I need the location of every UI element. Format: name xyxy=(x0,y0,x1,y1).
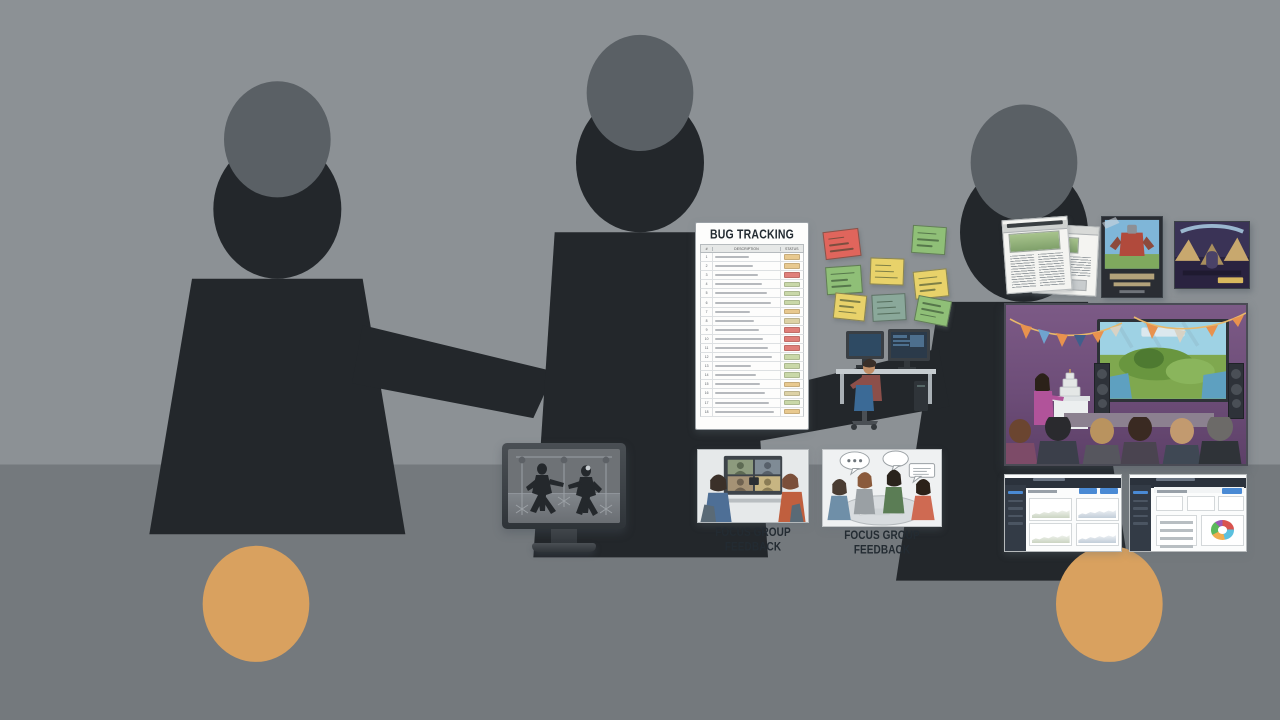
bug-row-id: 10 xyxy=(701,335,713,343)
live-ops-analytics-dashboard-1[interactable] xyxy=(1004,474,1122,552)
bug-row-id: 17 xyxy=(701,399,713,407)
bug-col-id: # xyxy=(701,247,713,251)
bug-tracking-row[interactable]: 1 xyxy=(700,253,804,262)
bug-row-description xyxy=(713,271,780,279)
bug-row-status-chip xyxy=(781,271,803,279)
bug-row-id: 8 xyxy=(701,317,713,325)
bug-row-id: 4 xyxy=(701,280,713,288)
sticky-note-7[interactable] xyxy=(871,293,906,322)
bug-row-description xyxy=(713,408,780,416)
bug-row-description xyxy=(713,353,780,361)
focus-group-roundtable-scene[interactable] xyxy=(822,449,942,527)
bug-row-status-chip xyxy=(781,298,803,306)
focus-group-roundtable-caption: FOCUS GROUP FEEDBACK xyxy=(822,530,942,558)
sticky-notes-board xyxy=(818,222,958,330)
bug-tracking-table[interactable]: BUG TRACKING # DESCRIPTION STATUS 123456… xyxy=(695,222,809,430)
fg1-line1: FOCUS GROUP xyxy=(697,527,809,541)
fg1-line2: FEEDBACK xyxy=(697,541,809,555)
bug-tracking-row[interactable]: 16 xyxy=(700,389,804,398)
bug-tracking-row[interactable]: 13 xyxy=(700,362,804,371)
bug-row-id: 7 xyxy=(701,308,713,316)
bug-row-status-chip xyxy=(781,389,803,397)
launch-party-scene[interactable] xyxy=(1004,303,1248,466)
bug-row-status-chip xyxy=(781,253,803,261)
game-poster-1[interactable] xyxy=(1101,216,1163,298)
bug-tracking-body: 123456789101112131415161718 xyxy=(700,253,804,417)
sticky-note-8[interactable] xyxy=(914,295,952,327)
bug-row-description xyxy=(713,335,780,343)
bug-row-status-chip xyxy=(781,408,803,416)
bug-row-id: 14 xyxy=(701,371,713,379)
bug-row-status-chip xyxy=(781,262,803,270)
bug-tracking-row[interactable]: 3 xyxy=(700,271,804,280)
bug-row-id: 18 xyxy=(701,408,713,416)
mocap-monitor[interactable] xyxy=(502,443,626,529)
bug-tracking-row[interactable]: 17 xyxy=(700,399,804,408)
speaker-left xyxy=(1094,363,1110,419)
bug-row-id: 13 xyxy=(701,362,713,370)
bug-row-status-chip xyxy=(781,399,803,407)
bug-tracking-row[interactable]: 15 xyxy=(700,380,804,389)
bug-row-description xyxy=(713,289,780,297)
bug-row-description xyxy=(713,317,780,325)
bug-row-id: 3 xyxy=(701,271,713,279)
bug-row-id: 1 xyxy=(701,253,713,261)
bug-col-status: STATUS xyxy=(781,247,803,251)
bug-row-description xyxy=(713,253,780,261)
bug-tracking-row[interactable]: 12 xyxy=(700,353,804,362)
live-ops-analytics-dashboard-2[interactable] xyxy=(1129,474,1247,552)
bug-row-description xyxy=(713,298,780,306)
bug-col-description: DESCRIPTION xyxy=(713,247,780,251)
bug-tracking-row[interactable]: 11 xyxy=(700,344,804,353)
bug-row-id: 16 xyxy=(701,389,713,397)
bug-row-status-chip xyxy=(781,344,803,352)
bug-row-status-chip xyxy=(781,308,803,316)
bug-tracking-row[interactable]: 9 xyxy=(700,326,804,335)
bug-tracking-title: BUG TRACKING xyxy=(700,225,804,246)
bug-row-description xyxy=(713,280,780,288)
bug-row-id: 2 xyxy=(701,262,713,270)
bug-tracking-row[interactable]: 8 xyxy=(700,317,804,326)
bug-row-status-chip xyxy=(781,317,803,325)
bug-row-status-chip xyxy=(781,326,803,334)
bug-row-description xyxy=(713,399,780,407)
sticky-note-2[interactable] xyxy=(911,225,947,255)
bug-tracking-row[interactable]: 10 xyxy=(700,335,804,344)
bug-row-id: 6 xyxy=(701,298,713,306)
focus-group-videocall-caption: FOCUS GROUP FEEDBACK xyxy=(697,527,809,555)
speaker-right xyxy=(1228,363,1244,419)
mocap-studio-still[interactable] xyxy=(0,62,120,124)
fg2-line1: FOCUS GROUP xyxy=(822,530,942,544)
bug-row-id: 5 xyxy=(701,289,713,297)
game-poster-2[interactable] xyxy=(1174,221,1250,289)
bug-tracking-row[interactable]: 2 xyxy=(700,262,804,271)
bug-row-description xyxy=(713,262,780,270)
bug-row-status-chip xyxy=(781,371,803,379)
sticky-note-3[interactable] xyxy=(825,265,863,295)
bug-tracking-row[interactable]: 5 xyxy=(700,289,804,298)
focus-group-videocall-scene[interactable] xyxy=(697,449,809,523)
bug-row-status-chip xyxy=(781,353,803,361)
bug-row-id: 15 xyxy=(701,380,713,388)
bug-row-status-chip xyxy=(781,289,803,297)
bug-row-description xyxy=(713,326,780,334)
bug-row-status-chip xyxy=(781,380,803,388)
bug-row-description xyxy=(713,362,780,370)
bug-tracking-row[interactable]: 7 xyxy=(700,308,804,317)
press-review-newspaper-front[interactable] xyxy=(1001,216,1072,294)
bug-row-description xyxy=(713,389,780,397)
sticky-note-1[interactable] xyxy=(822,228,861,260)
sticky-note-6[interactable] xyxy=(833,292,868,321)
bug-row-status-chip xyxy=(781,335,803,343)
bug-row-description xyxy=(713,308,780,316)
bug-row-status-chip xyxy=(781,362,803,370)
bug-row-id: 11 xyxy=(701,344,713,352)
bug-row-description xyxy=(713,344,780,352)
fg2-line2: FEEDBACK xyxy=(822,544,942,558)
bug-tracking-row[interactable]: 18 xyxy=(700,408,804,417)
bug-row-description xyxy=(713,371,780,379)
bug-tracking-row[interactable]: 6 xyxy=(700,298,804,307)
bug-row-description xyxy=(713,380,780,388)
bug-row-status-chip xyxy=(781,280,803,288)
bug-tracking-row[interactable]: 4 xyxy=(700,280,804,289)
qa-testing-desk-scene[interactable] xyxy=(822,325,942,435)
sticky-note-4[interactable] xyxy=(870,257,905,285)
bug-tracking-row[interactable]: 14 xyxy=(700,371,804,380)
bug-row-id: 9 xyxy=(701,326,713,334)
bug-row-id: 12 xyxy=(701,353,713,361)
